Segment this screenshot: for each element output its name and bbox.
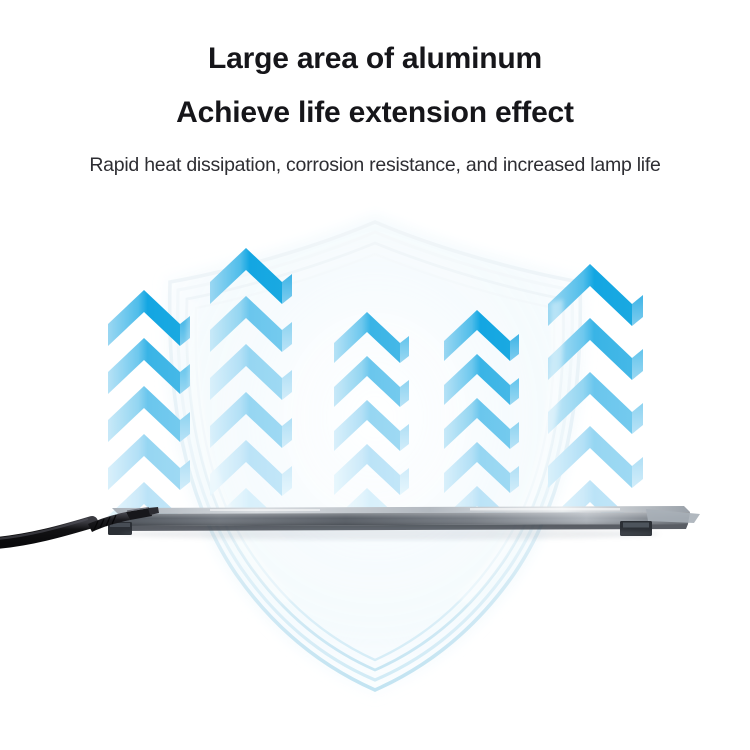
aluminum-heat-sink-plate — [112, 506, 700, 531]
product-feature-banner: Large area of aluminum Achieve life exte… — [0, 0, 750, 750]
headline-block: Large area of aluminum Achieve life exte… — [0, 0, 750, 176]
headline-secondary: Achieve life extension effect — [0, 74, 750, 128]
subtitle-text: Rapid heat dissipation, corrosion resist… — [0, 128, 750, 176]
headline-primary: Large area of aluminum — [0, 0, 750, 74]
